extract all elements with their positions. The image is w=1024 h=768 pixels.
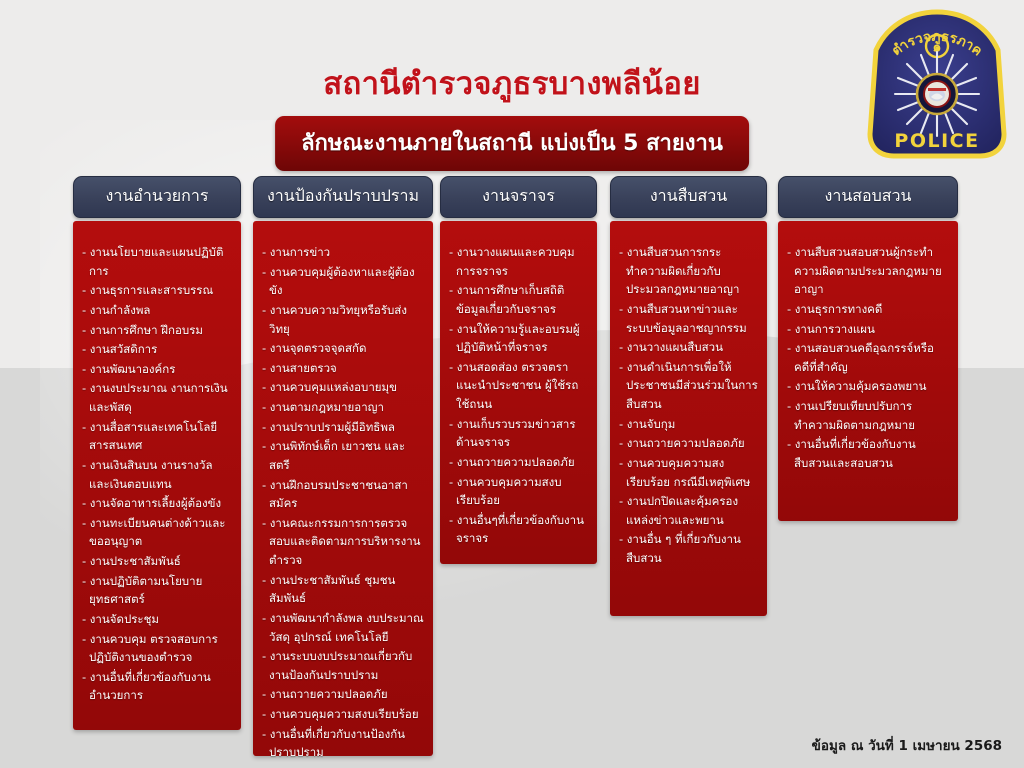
list-item: - งานงบประมาณ งานการเงินและพัสดุ [82, 379, 232, 416]
list-item: - งานจัดประชุม [82, 610, 232, 629]
list-item: - งานสืบสวนสอบสวนผู้กระทำความผิดตามประมว… [787, 243, 949, 299]
list-item: - งานพิทักษ์เด็ก เยาวชน และสตรี [262, 437, 424, 474]
list-item: - งานอื่นที่เกี่ยวข้องกับงานอำนวยการ [82, 668, 232, 705]
column-header-label: งานสอบสวน [783, 184, 953, 209]
list-item: - งานตามกฎหมายอาญา [262, 398, 424, 417]
list-item: - งานควบความวิทยุหรือรับส่งวิทยุ [262, 301, 424, 338]
list-item: - งานควบคุมความสงบเรียบร้อย [262, 705, 424, 724]
list-item: - งานถวายความปลอดภัย [619, 434, 758, 453]
list-item: - งานอื่น ๆ ที่เกี่ยวกับงานสืบสวน [619, 530, 758, 567]
list-item: - งานระบบงบประมาณเกี่ยวกับงานป้องกันปราบ… [262, 647, 424, 684]
list-item: - งานปฏิบัติตามนโยบายยุทธศาสตร์ [82, 572, 232, 609]
list-item: - งานฝึกอบรมประชาชนอาสาสมัคร [262, 476, 424, 513]
column-header-investigation[interactable]: งานสืบสวน [610, 176, 767, 218]
list-item: - งานปราบปรามผู้มีอิทธิพล [262, 418, 424, 437]
list-item: - งานให้ความคุ้มครองพยาน [787, 377, 949, 396]
column-header-label: งานจราจร [445, 184, 592, 209]
list-item: - งานควบคุมความสงเรียบร้อย กรณีมีเหตุพิเ… [619, 454, 758, 491]
list-item: - งานสายตรวจ [262, 359, 424, 378]
list-item: - งานคณะกรรมการการตรวจสอบและติดตามการบริ… [262, 514, 424, 570]
list-item: - งานธุรการและสารบรรณ [82, 281, 232, 300]
column-investigation: งานสืบสวน - งานสืบสวนการกระทำความผิดเกี่… [610, 176, 767, 616]
list-item: - งานจับกุม [619, 415, 758, 434]
list-item: - งานการข่าว [262, 243, 424, 262]
work-stream-columns: งานอำนวยการ - งานนโยบายและแผนปฏิบัติการ … [0, 176, 1024, 756]
list-item: - งานพัฒนากำลังพล งบประมาณ วัสดุ อุปกรณ์… [262, 609, 424, 646]
column-body-administration: - งานนโยบายและแผนปฏิบัติการ - งานธุรการแ… [73, 221, 241, 730]
list-item: - งานการศึกษา ฝึกอบรม [82, 321, 232, 340]
list-item: - งานถวายความปลอดภัย [449, 453, 588, 472]
list-item: - งานการศึกษาเก็บสถิติข้อมูลเกี่ยวกับจรา… [449, 281, 588, 318]
column-header-traffic[interactable]: งานจราจร [440, 176, 597, 218]
list-item: - งานวางแผนสืบสวน [619, 338, 758, 357]
column-header-administration[interactable]: งานอำนวยการ [73, 176, 241, 218]
list-item: - งานเก็บรวบรวมข่าวสารด้านจราจร [449, 415, 588, 452]
list-item: - งานทะเบียนคนต่างด้าวและขออนุญาต [82, 514, 232, 551]
column-body-crime-prevention: - งานการข่าว - งานควบคุมผู้ต้องหาและผู้ต… [253, 221, 433, 756]
list-item: - งานอื่นที่เกี่ยวกับงานป้องกันปราบปราม [262, 725, 424, 762]
list-item: - งานปกปิดและคุ้มครองแหล่งข่าวและพยาน [619, 492, 758, 529]
list-item: - งานวางแผนและควบคุมการจราจร [449, 243, 588, 280]
list-item: - งานถวายความปลอดภัย [262, 685, 424, 704]
list-item: - งานเปรียบเทียบปรับการทำความผิดตามกฎหมา… [787, 397, 949, 434]
list-item: - งานนโยบายและแผนปฏิบัติการ [82, 243, 232, 280]
column-header-label: งานป้องกันปราบปราม [258, 184, 428, 209]
column-administration: งานอำนวยการ - งานนโยบายและแผนปฏิบัติการ … [73, 176, 241, 730]
list-item: - งานควบคุมผู้ต้องหาและผู้ต้องขัง [262, 263, 424, 300]
list-item: - งานสื่อสารและเทคโนโลยีสารสนเทศ [82, 418, 232, 455]
list-item: - งานสอดส่อง ตรวจตรา แนะนำประชาชน ผู้ใช้… [449, 358, 588, 414]
column-traffic: งานจราจร - งานวางแผนและควบคุมการจราจร - … [440, 176, 597, 564]
list-item: - งานให้ความรู้และอบรมผู้ปฏิบัติหน้าที่จ… [449, 320, 588, 357]
column-header-label: งานสืบสวน [615, 184, 762, 209]
list-item: - งานสวัสดิการ [82, 340, 232, 359]
list-item: - งานกำลังพล [82, 301, 232, 320]
column-inquiry: งานสอบสวน - งานสืบสวนสอบสวนผู้กระทำความผ… [778, 176, 958, 521]
column-body-investigation: - งานสืบสวนการกระทำความผิดเกี่ยวกับประมว… [610, 221, 767, 616]
column-header-inquiry[interactable]: งานสอบสวน [778, 176, 958, 218]
list-item: - งานเงินสินบน งานรางวัลและเงินตอบแทน [82, 456, 232, 493]
column-body-traffic: - งานวางแผนและควบคุมการจราจร - งานการศึก… [440, 221, 597, 564]
list-item: - งานควบคุมแหล่งอบายมุข [262, 378, 424, 397]
list-item: - งานจัดอาหารเลี้ยงผู้ต้องขัง [82, 494, 232, 513]
list-item: - งานอื่นที่เกี่ยวข้องกับงานสืบสวนและสอบ… [787, 435, 949, 472]
subtitle-banner: ลักษณะงานภายในสถานี แบ่งเป็น 5 สายงาน [275, 116, 749, 171]
list-item: - งานจุดตรวจจุดสกัด [262, 339, 424, 358]
list-item: - งานดำเนินการเพื่อให้ประชาชนมีส่วนร่วมใ… [619, 358, 758, 414]
list-item: - งานสอบสวนคดีอุฉกรรจ์หรือคดีที่สำคัญ [787, 339, 949, 376]
list-item: - งานสืบสวนหาข่าวและระบบข้อมูลอาชญากรรม [619, 300, 758, 337]
list-item: - งานควบคุม ตรวจสอบการปฏิบัติงานของตำรวจ [82, 630, 232, 667]
column-crime-prevention: งานป้องกันปราบปราม - งานการข่าว - งานควบ… [253, 176, 433, 756]
badge-police-text: POLICE [894, 130, 979, 152]
list-item: - งานพัฒนาองค์กร [82, 360, 232, 379]
footer-date-note: ข้อมูล ณ วันที่ 1 เมษายน 2568 [812, 734, 1002, 756]
list-item: - งานสืบสวนการกระทำความผิดเกี่ยวกับประมว… [619, 243, 758, 299]
column-body-inquiry: - งานสืบสวนสอบสวนผู้กระทำความผิดตามประมว… [778, 221, 958, 521]
list-item: - งานประชาสัมพันธ์ [82, 552, 232, 571]
subtitle-text: ลักษณะงานภายในสถานี แบ่งเป็น 5 สายงาน [301, 125, 723, 160]
column-header-label: งานอำนวยการ [78, 184, 236, 209]
list-item: - งานธุรการทางคดี [787, 300, 949, 319]
list-item: - งานประชาสัมพันธ์ ชุมชนสัมพันธ์ [262, 571, 424, 608]
list-item: - งานอื่นๆที่เกี่ยวข้องกับงานจราจร [449, 511, 588, 548]
list-item: - งานควบคุมความสงบเรียบร้อย [449, 473, 588, 510]
column-header-crime-prevention[interactable]: งานป้องกันปราบปราม [253, 176, 433, 218]
list-item: - งานการวางแผน [787, 320, 949, 339]
page-title: สถานีตำรวจภูธรบางพลีน้อย [0, 58, 1024, 108]
